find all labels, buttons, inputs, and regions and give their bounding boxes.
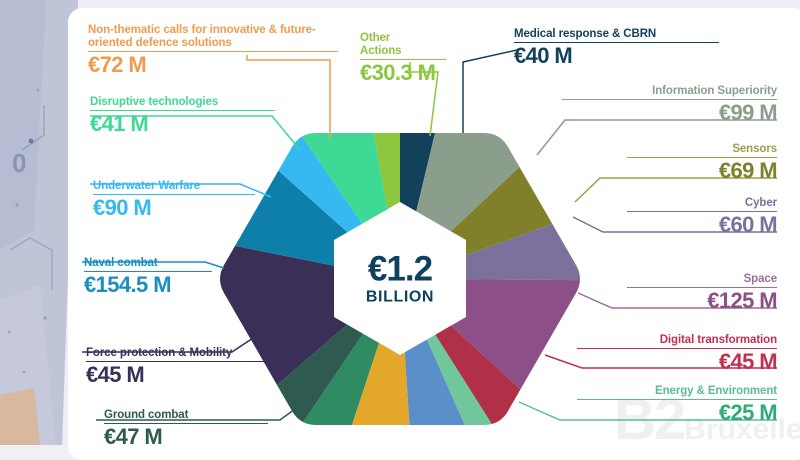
callout-disruptive-technologies-value: €41 M	[90, 112, 275, 137]
callout-digital-transformation-title: Digital transformation	[577, 334, 777, 347]
callout-medical-value: €40 M	[514, 44, 719, 69]
callout-info-superiority-title: Information Superiority	[562, 85, 777, 98]
callout-nonthematic-value: €72 M	[88, 53, 338, 78]
callout-energy-environment: Energy & Environment €25 M	[577, 385, 777, 426]
callout-medical: Medical response & CBRN €40 M	[514, 28, 719, 69]
callout-digital-transformation-value: €45 M	[577, 350, 777, 375]
callout-other-actions-title-line1: Other	[360, 32, 446, 45]
callout-space: Space €125 M	[627, 273, 777, 314]
callout-other-actions-title-line2: Actions	[360, 45, 446, 58]
callout-force-protection-title: Force protection & Mobility	[86, 347, 296, 360]
callout-info-superiority: Information Superiority €99 M	[562, 85, 777, 126]
callout-space-value: €125 M	[627, 289, 777, 314]
callout-force-protection: Force protection & Mobility €45 M	[86, 347, 296, 388]
callout-underwater-warfare: Underwater Warfare €90 M	[93, 180, 255, 221]
callout-other-actions: Other Actions €30.3 M	[360, 32, 446, 86]
callout-disruptive-technologies-title: Disruptive technologies	[90, 96, 275, 109]
callout-energy-environment-value: €25 M	[577, 401, 777, 426]
callout-medical-title: Medical response & CBRN	[514, 28, 719, 41]
callout-underwater-warfare-value: €90 M	[93, 196, 255, 221]
callout-naval-combat-title: Naval combat	[84, 257, 212, 270]
callout-nonthematic: Non-thematic calls for innovative & futu…	[88, 24, 338, 78]
callout-disruptive-technologies: Disruptive technologies €41 M	[90, 96, 275, 137]
callout-ground-combat-value: €47 M	[104, 425, 268, 450]
callout-digital-transformation: Digital transformation €45 M	[577, 334, 777, 375]
callout-naval-combat-value: €154.5 M	[84, 273, 212, 298]
callout-info-superiority-value: €99 M	[562, 101, 777, 126]
callout-ground-combat-title: Ground combat	[104, 409, 268, 422]
callout-force-protection-value: €45 M	[86, 363, 296, 388]
callout-energy-environment-title: Energy & Environment	[577, 385, 777, 398]
callout-naval-combat: Naval combat €154.5 M	[84, 257, 212, 298]
callout-sensors-title: Sensors	[627, 143, 777, 156]
callout-underwater-warfare-title: Underwater Warfare	[93, 180, 255, 193]
callout-cyber-value: €60 M	[627, 213, 777, 238]
callout-cyber-title: Cyber	[627, 197, 777, 210]
callout-sensors-value: €69 M	[627, 159, 777, 184]
callout-sensors: Sensors €69 M	[627, 143, 777, 184]
leader-medical	[463, 50, 517, 133]
callout-other-actions-value: €30.3 M	[360, 61, 446, 86]
callout-nonthematic-title: Non-thematic calls for innovative & futu…	[88, 24, 338, 50]
callout-cyber: Cyber €60 M	[627, 197, 777, 238]
callout-ground-combat: Ground combat €47 M	[104, 409, 268, 450]
callout-space-title: Space	[627, 273, 777, 286]
